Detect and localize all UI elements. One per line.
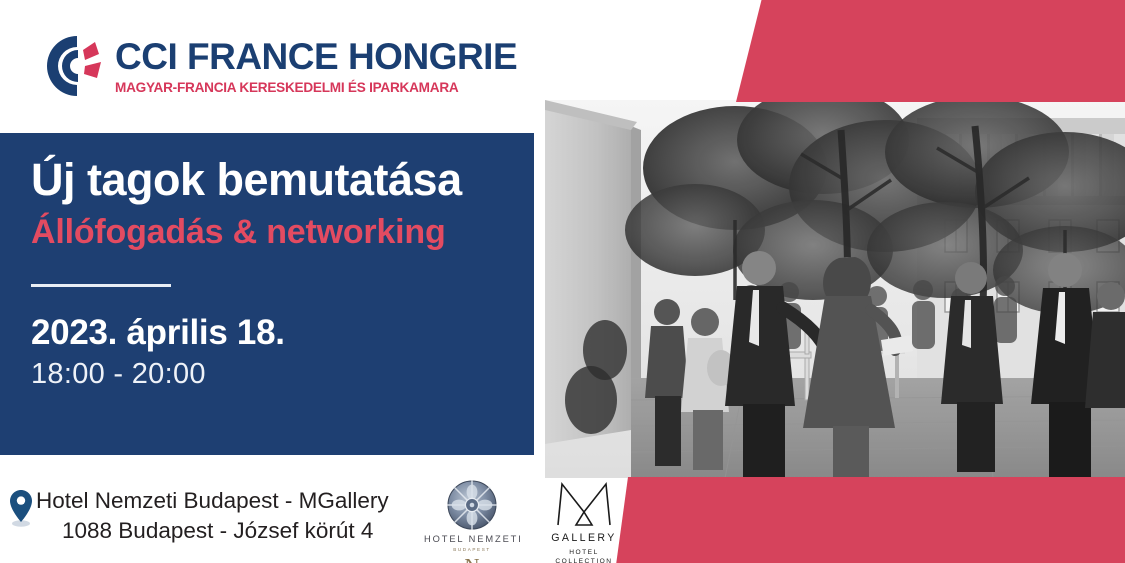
partner-logos: HOTEL NEMZETI BUDAPEST N GALLERY HOTEL C… [424,479,626,563]
photo-illustration [545,100,1125,478]
cci-logo-tagline: MAGYAR-FRANCIA KERESKEDELMI ÉS IPARKAMAR… [115,81,517,95]
hotel-nemzeti-logo: HOTEL NEMZETI BUDAPEST N [424,479,520,563]
cci-france-hongrie-logo: CCI FRANCE HONGRIE MAGYAR-FRANCIA KERESK… [33,28,517,104]
venue-name: Hotel Nemzeti Budapest - MGallery [36,486,389,516]
mgallery-m-icon [554,481,614,527]
mgallery-sub2: COLLECTION [542,558,626,563]
mgallery-logo: GALLERY HOTEL COLLECTION [542,479,626,563]
red-accent-top [700,0,1125,102]
cci-c-monogram-icon [33,28,105,104]
venue-address: 1088 Budapest - József körút 4 [36,516,389,546]
mgallery-name: GALLERY [542,532,626,544]
event-banner: Új tagok bemutatása Állófogadás & networ… [0,0,1125,563]
mgallery-sub1: HOTEL [542,549,626,556]
nemzeti-medallion-icon [446,479,498,531]
event-subtitle: Állófogadás & networking [31,211,520,254]
map-pin-icon [8,488,34,528]
cci-logo-name: CCI FRANCE HONGRIE [115,38,517,75]
hotel-nemzeti-name: HOTEL NEMZETI [424,534,520,544]
divider [31,284,171,287]
event-info-panel: Új tagok bemutatása Állófogadás & networ… [0,133,534,455]
hotel-nemzeti-city: BUDAPEST [424,547,520,552]
venue-block: Hotel Nemzeti Budapest - MGallery 1088 B… [8,486,389,546]
red-accent-bottom [600,477,1125,563]
event-title: Új tagok bemutatása [31,155,520,205]
hotel-nemzeti-monogram: N [424,556,520,563]
event-date: 2023. április 18. [31,313,520,352]
event-time: 18:00 - 20:00 [31,356,520,392]
event-photo [545,100,1125,478]
